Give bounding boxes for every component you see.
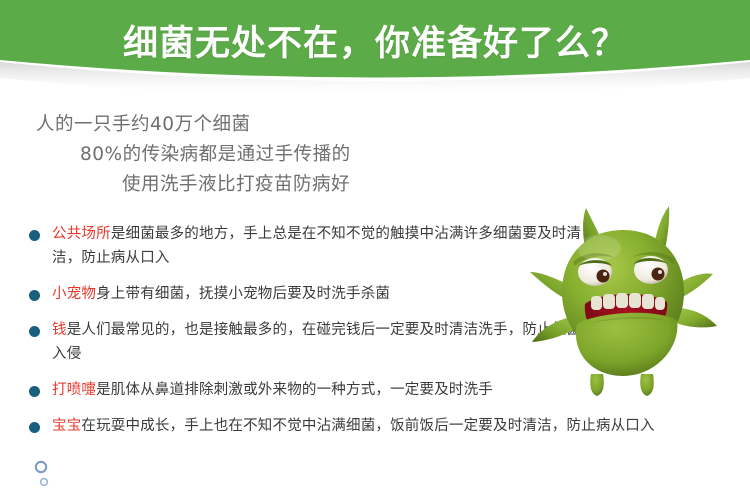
list-item: 钱是人们最常见的，也是接触最多的，在碰完钱后一定要及时清洁洗手，防止细菌入侵: [0, 318, 592, 366]
list-item: 小宠物身上带有细菌，抚摸小宠物后要及时洗手杀菌: [0, 282, 592, 306]
bullet-body: 是肌体从鼻道排除刺激或外来物的一种方式，一定要及时洗手: [96, 382, 493, 398]
bullet-keyword: 宝宝: [52, 418, 81, 434]
bullet-keyword: 小宠物: [52, 286, 96, 302]
bullet-dot-icon: [29, 422, 40, 433]
list-item: 宝宝在玩耍中成长，手上也在不知不觉中沾满细菌，饭前饭后一定要及时清洁，防止病从口…: [0, 414, 750, 438]
list-item: 公共场所是细菌最多的地方，手上总是在不知不觉的触摸中沾满许多细菌要及时清洁，防止…: [0, 222, 592, 270]
subtitle-line-2: 80%的传染病都是通过手传播的: [0, 140, 560, 170]
bullet-body: 是细菌最多的地方，手上总是在不知不觉的触摸中沾满许多细菌要及时清洁，防止病从口入: [52, 226, 581, 266]
bullet-keyword: 公共场所: [52, 226, 111, 242]
bullet-keyword: 钱: [52, 322, 67, 338]
bullet-dot-icon: [29, 386, 40, 397]
bullet-body: 是人们最常见的，也是接触最多的，在碰完钱后一定要及时清洁洗手，防止细菌入侵: [52, 322, 581, 362]
subtitle-line-3: 使用洗手液比打疫苗防病好: [0, 170, 560, 200]
header-banner: 细菌无处不在，你准备好了么？: [0, 0, 750, 100]
bullet-dot-icon: [29, 230, 40, 241]
poster-root: 细菌无处不在，你准备好了么？ 人的一只手约40万个细菌 80%的传染病都是通过手…: [0, 0, 750, 493]
bubble-decoration-icon: [28, 458, 68, 490]
bullet-dot-icon: [29, 326, 40, 337]
subtitle-block: 人的一只手约40万个细菌 80%的传染病都是通过手传播的 使用洗手液比打疫苗防病…: [0, 110, 560, 200]
germ-mascot-icon: [527, 196, 722, 411]
page-title: 细菌无处不在，你准备好了么？: [0, 22, 750, 67]
bullet-keyword: 打喷嚏: [52, 382, 96, 398]
subtitle-line-1: 人的一只手约40万个细菌: [0, 110, 560, 140]
bullet-body: 在玩耍中成长，手上也在不知不觉中沾满细菌，饭前饭后一定要及时清洁，防止病从口入: [81, 418, 654, 434]
bullet-body: 身上带有细菌，抚摸小宠物后要及时洗手杀菌: [96, 286, 390, 302]
bullet-dot-icon: [29, 290, 40, 301]
